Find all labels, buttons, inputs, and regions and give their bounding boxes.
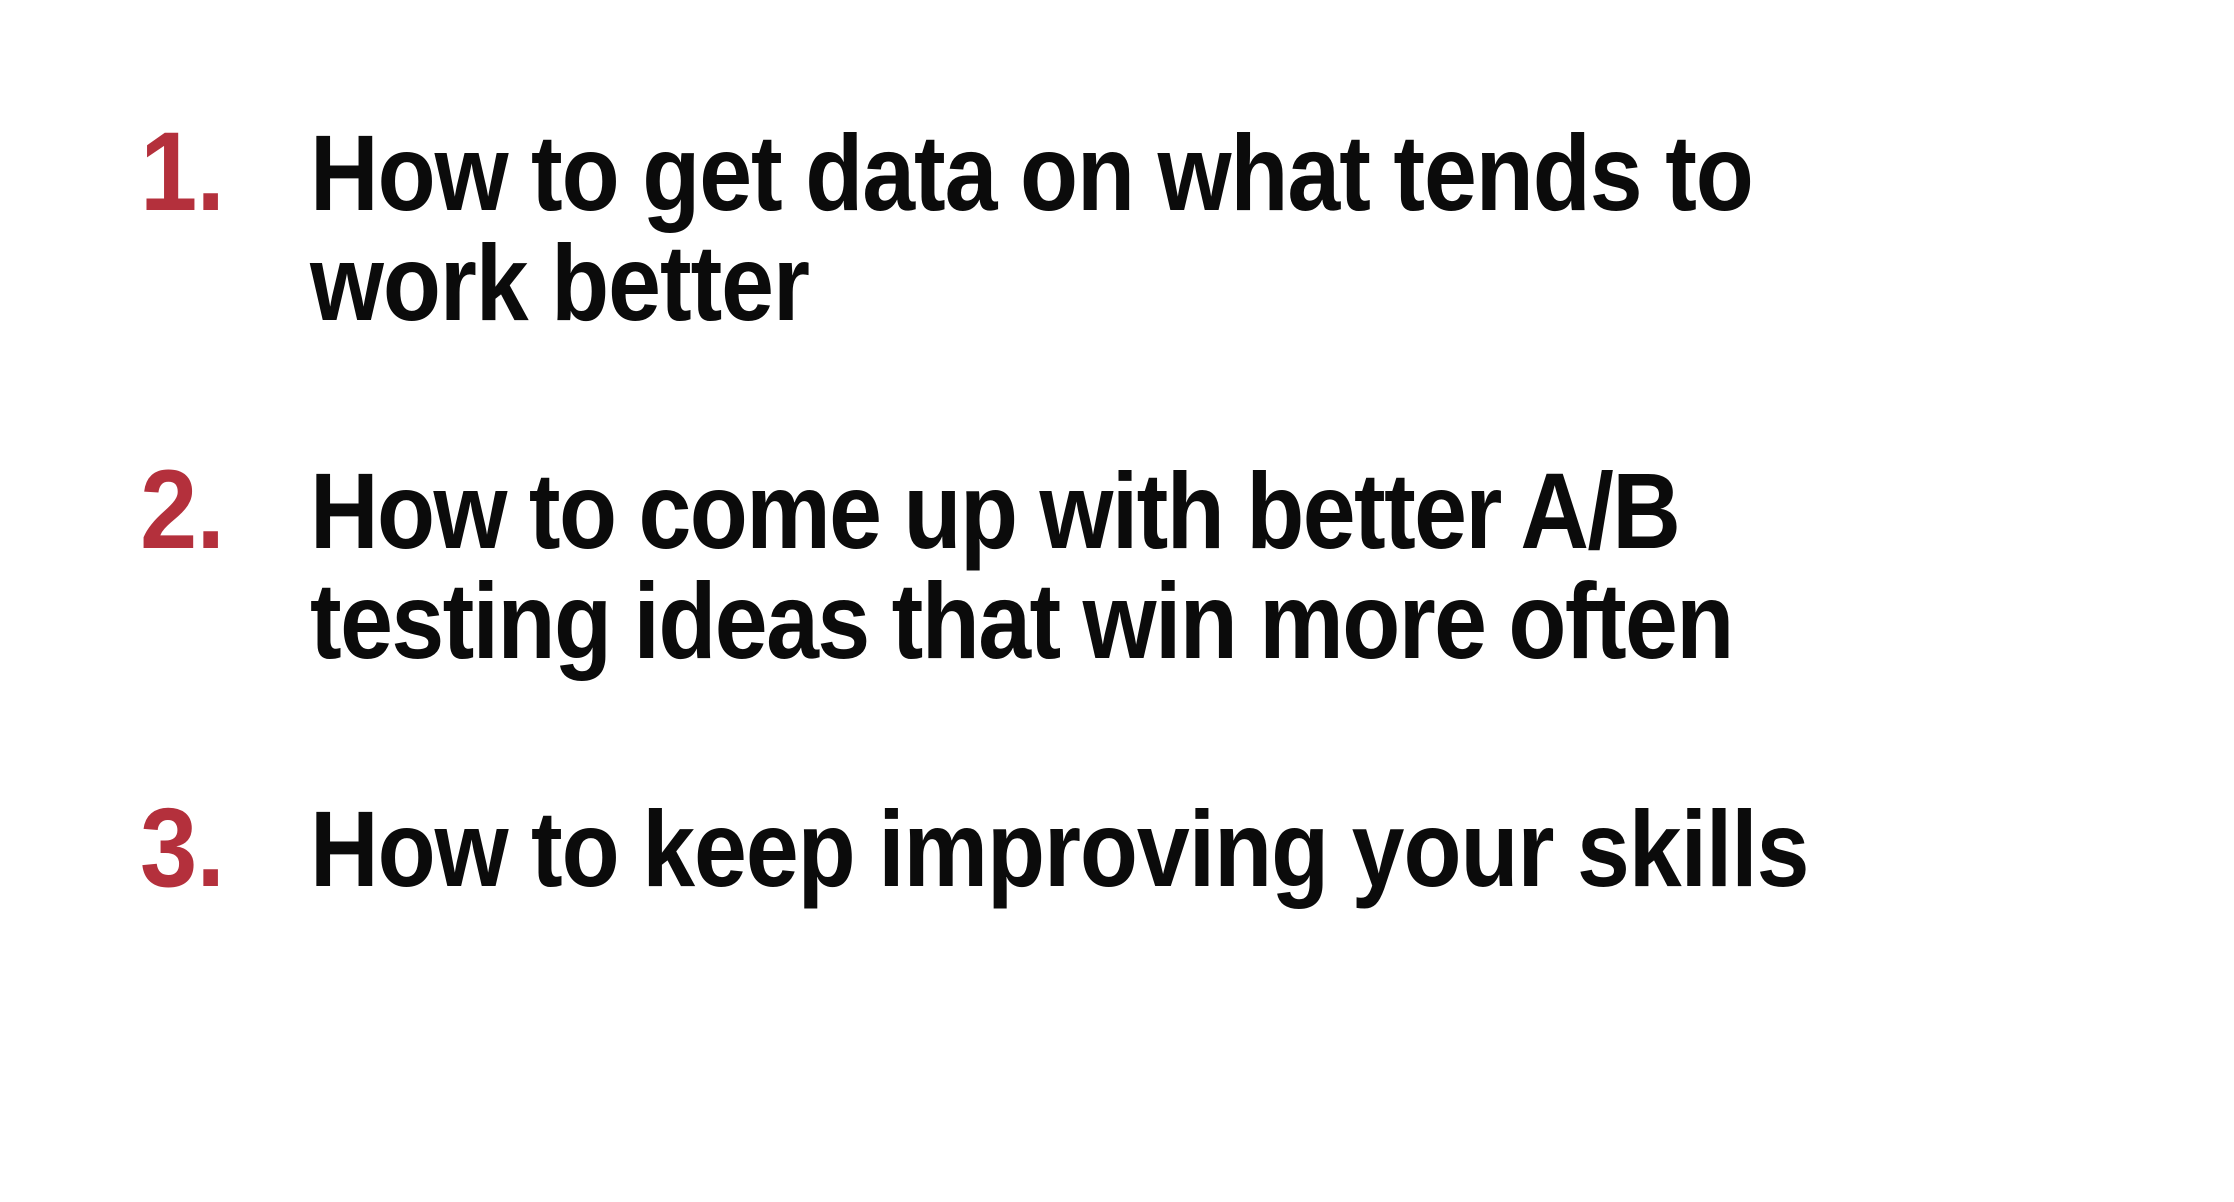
list-item-number: 1. <box>140 118 296 226</box>
list-item: 2. How to come up with better A/B testin… <box>140 456 2134 676</box>
list-item-text: How to get data on what tends to work be… <box>310 118 1915 338</box>
list-item-number: 2. <box>140 456 296 564</box>
slide-canvas: 1. How to get data on what tends to work… <box>0 0 2234 1202</box>
list-item: 1. How to get data on what tends to work… <box>140 118 2134 338</box>
list-item-number: 3. <box>140 794 296 902</box>
list-item-text: How to come up with better A/B testing i… <box>310 456 1915 676</box>
list-item-text: How to keep improving your skills <box>310 794 1915 904</box>
list-item: 3. How to keep improving your skills <box>140 794 2134 904</box>
numbered-list: 1. How to get data on what tends to work… <box>140 118 2134 904</box>
